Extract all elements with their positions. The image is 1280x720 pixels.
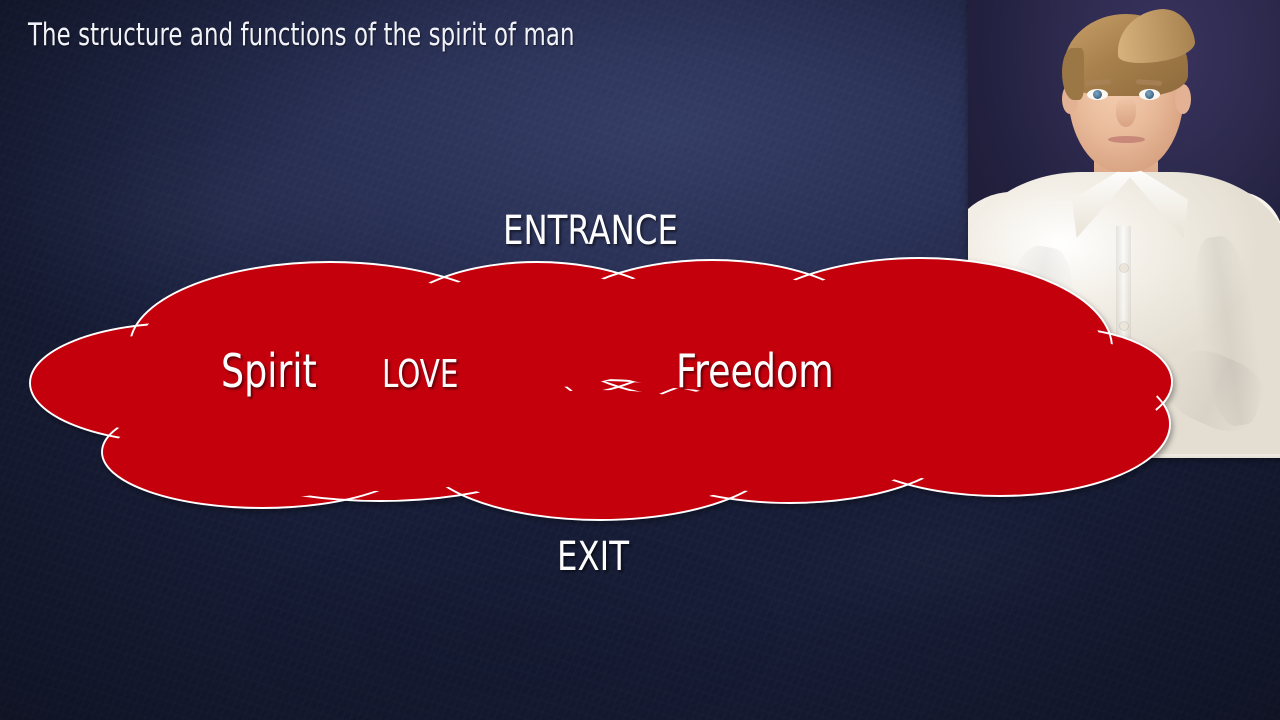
- cloud-label-entrance: ENTRANCE: [503, 208, 678, 254]
- presenter-shirt-placket: [1116, 226, 1131, 456]
- presenter-nose: [1116, 97, 1136, 127]
- presenter-iris-left: [1093, 90, 1102, 99]
- cloud-label-spirit: Spirit: [221, 344, 317, 398]
- presenter-shirt-button: [1120, 322, 1128, 330]
- presenter-eye-right: [1139, 89, 1160, 100]
- cloud-label-love: LOVE: [382, 352, 458, 396]
- presenter-video-overlay: [968, 0, 1280, 458]
- presenter-shirt-button: [1120, 380, 1128, 388]
- presenter-shirt-button: [1120, 436, 1128, 444]
- presenter-mouth: [1108, 136, 1145, 143]
- presenter-eye-left: [1087, 89, 1108, 100]
- presenter-iris-right: [1145, 90, 1154, 99]
- slide-canvas: The structure and functions of the spiri…: [0, 0, 1280, 720]
- presenter-shirt-button: [1120, 264, 1128, 272]
- cloud-label-exit: EXIT: [557, 534, 629, 580]
- presenter-hair-side: [1062, 48, 1084, 100]
- cloud-label-freedom: Freedom: [676, 344, 834, 398]
- presenter-frame-edge: [968, 454, 1280, 458]
- page-title: The structure and functions of the spiri…: [28, 18, 575, 54]
